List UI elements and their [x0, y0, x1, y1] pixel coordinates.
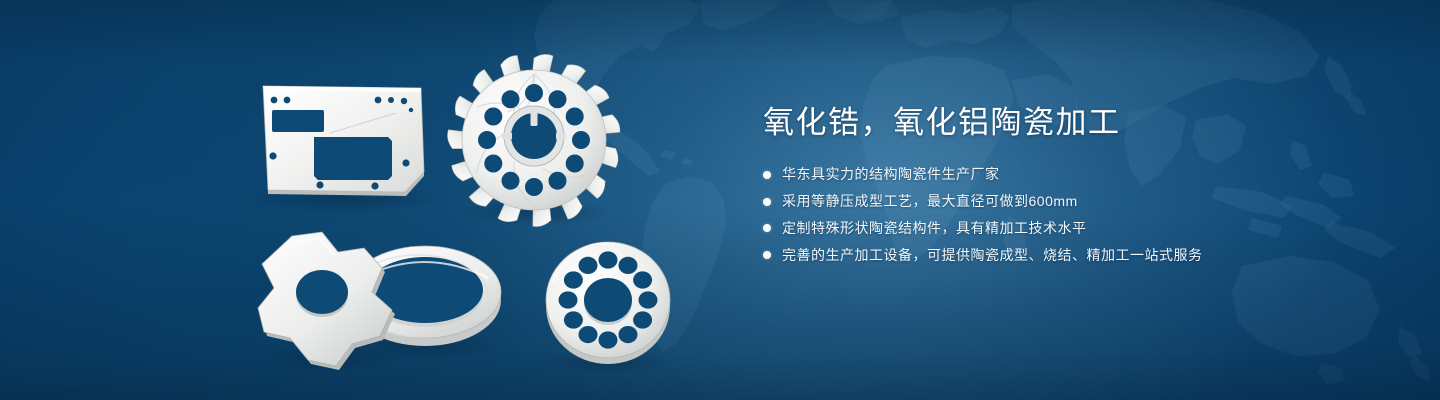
feature-text: 定制特殊形状陶瓷结构件，具有精加工技术水平	[782, 219, 1087, 238]
bullet-dot-icon	[763, 171, 771, 179]
banner-copy: 氧化锆，氧化铝陶瓷加工 华东具实力的结构陶瓷件生产厂家 采用等静压成型工艺，最大…	[763, 104, 1383, 265]
ceramic-impeller-disc	[447, 54, 621, 228]
feature-list: 华东具实力的结构陶瓷件生产厂家 采用等静压成型工艺，最大直径可做到600mm 定…	[763, 165, 1383, 265]
page-title: 氧化锆，氧化铝陶瓷加工	[763, 104, 1383, 141]
ceramic-cross-shaped-part	[258, 232, 402, 372]
bullet-dot-icon	[763, 251, 771, 259]
ceramic-perforated-disc	[546, 242, 670, 374]
ceramic-products-artwork	[0, 0, 760, 400]
feature-text: 采用等静压成型工艺，最大直径可做到600mm	[782, 192, 1078, 211]
list-item: 华东具实力的结构陶瓷件生产厂家	[763, 165, 1383, 184]
list-item: 定制特殊形状陶瓷结构件，具有精加工技术水平	[763, 219, 1383, 238]
bullet-dot-icon	[763, 224, 771, 232]
bullet-dot-icon	[763, 198, 771, 206]
list-item: 采用等静压成型工艺，最大直径可做到600mm	[763, 192, 1383, 211]
list-item: 完善的生产加工设备，可提供陶瓷成型、烧结、精加工一站式服务	[763, 246, 1383, 265]
ceramic-plate-with-cutouts	[245, 86, 445, 214]
feature-text: 完善的生产加工设备，可提供陶瓷成型、烧结、精加工一站式服务	[782, 246, 1203, 265]
promo-banner: 氧化锆，氧化铝陶瓷加工 华东具实力的结构陶瓷件生产厂家 采用等静压成型工艺，最大…	[0, 0, 1440, 400]
feature-text: 华东具实力的结构陶瓷件生产厂家	[782, 165, 1000, 184]
